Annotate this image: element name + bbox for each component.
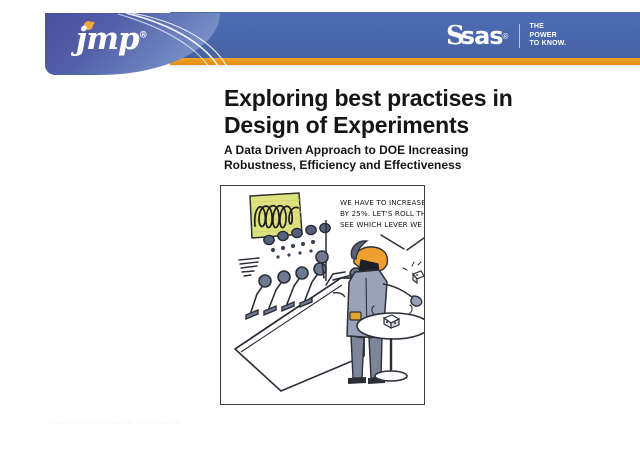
- header-stripe-shadow: [170, 65, 640, 69]
- speech-line-1: WE HAVE TO INCREASE EFFICIENCY: [340, 198, 424, 207]
- jmp-logo-text: jmp: [76, 21, 139, 57]
- slide-canvas: jmp® S sas ® THE POWER TO KNOW. Explorin…: [0, 0, 640, 452]
- sas-logo: S sas ® THE POWER TO KNOW.: [446, 22, 566, 50]
- sas-tagline-line-1: THE: [529, 23, 566, 32]
- sas-tagline: THE POWER TO KNOW.: [529, 23, 566, 49]
- footer-copyright: Copyright © 2012 SAS Institute Inc. All …: [52, 420, 180, 425]
- jmp-logo: jmp®: [76, 24, 147, 55]
- page-subtitle-line-2: Robustness, Efficiency and Effectiveness: [224, 158, 624, 173]
- sas-registered-mark: ®: [503, 32, 509, 41]
- page-title: Exploring best practises in Design of Ex…: [224, 85, 624, 138]
- page-title-line-2: Design of Experiments: [224, 112, 624, 139]
- cartoon-speech-text: WE HAVE TO INCREASE EFFICIENCY BY 25%. L…: [340, 198, 424, 229]
- title-block: Exploring best practises in Design of Ex…: [224, 85, 624, 174]
- doe-cartoon-image: WE HAVE TO INCREASE EFFICIENCY BY 25%. L…: [220, 185, 425, 405]
- sas-tagline-line-2: POWER: [529, 32, 566, 41]
- page-subtitle: A Data Driven Approach to DOE Increasing…: [224, 143, 624, 173]
- cartoon-flying-dice: [403, 262, 424, 283]
- cartoon-table: [357, 305, 424, 381]
- slide-header: jmp® S sas ® THE POWER TO KNOW.: [0, 0, 640, 75]
- page-title-line-1: Exploring best practises in: [224, 85, 624, 112]
- header-orange-stripe: [170, 58, 640, 65]
- page-subtitle-line-1: A Data Driven Approach to DOE Increasing: [224, 143, 624, 158]
- sas-tagline-line-3: TO KNOW.: [529, 40, 566, 49]
- cartoon-speech-pointer: [381, 235, 424, 250]
- speech-line-2: BY 25%. LET'S ROLL THE DICE AND: [340, 209, 424, 218]
- jmp-trademark: ®: [139, 31, 147, 41]
- sas-divider: [519, 24, 520, 48]
- sas-wordmark: sas: [461, 24, 503, 48]
- header-blue-band: [170, 12, 640, 58]
- cartoon-hatch-marks: [239, 258, 259, 276]
- speech-line-3: SEE WHICH LEVER WE PULL NOW: [340, 220, 424, 229]
